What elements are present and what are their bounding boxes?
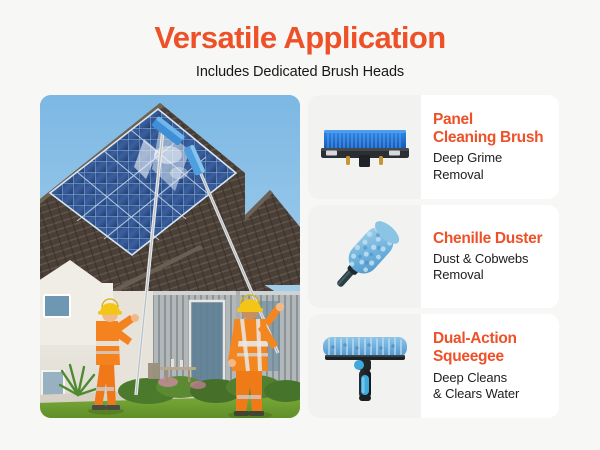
feature-card-list: Panel Cleaning Brush Deep Grime Removal <box>308 95 559 418</box>
infographic-root: Versatile Application Includes Dedicated… <box>0 0 600 450</box>
card-title: Dual-Action Squeegee <box>433 330 551 367</box>
dual-action-squeegee-icon <box>315 325 415 407</box>
card-title: Panel Cleaning Brush <box>433 111 551 148</box>
card-title: Chenille Duster <box>433 230 551 248</box>
feature-card-panel-cleaning-brush[interactable]: Panel Cleaning Brush Deep Grime Removal <box>308 95 559 199</box>
card-title-line1: Chenille Duster <box>433 230 542 247</box>
feature-card-dual-action-squeegee[interactable]: Dual-Action Squeegee Deep Cleans & Clear… <box>308 314 559 418</box>
dual-action-squeegee-text: Dual-Action Squeegee Deep Cleans & Clear… <box>421 314 559 418</box>
card-desc-line1: Deep Grime Removal <box>433 150 502 181</box>
card-description: Deep Grime Removal <box>433 150 551 183</box>
chenille-duster-text: Chenille Duster Dust & Cobwebs Removal <box>421 205 559 309</box>
card-desc-line1: Dust & Cobwebs <box>433 251 528 266</box>
card-desc-line2: & Clears Water <box>433 386 519 401</box>
panel-cleaning-brush-thumb <box>308 95 421 199</box>
chenille-duster-thumb <box>308 205 421 309</box>
card-description: Dust & Cobwebs Removal <box>433 251 551 284</box>
card-title-line1: Panel <box>433 111 473 128</box>
card-title-line2: Squeegee <box>433 348 504 365</box>
card-title-line1: Dual-Action <box>433 330 517 347</box>
content-row: Panel Cleaning Brush Deep Grime Removal <box>40 95 559 418</box>
card-title-line2: Cleaning Brush <box>433 129 543 146</box>
card-desc-line2: Removal <box>433 267 484 282</box>
page-subtitle: Includes Dedicated Brush Heads <box>0 64 600 80</box>
panel-cleaning-brush-icon <box>317 117 413 177</box>
page-title: Versatile Application <box>0 22 600 55</box>
solar-panel-cleaning-photo <box>40 95 300 418</box>
dual-action-squeegee-thumb <box>308 314 421 418</box>
card-description: Deep Cleans & Clears Water <box>433 370 551 403</box>
header: Versatile Application Includes Dedicated… <box>0 0 600 80</box>
chenille-duster-icon <box>317 216 413 298</box>
panel-cleaning-brush-text: Panel Cleaning Brush Deep Grime Removal <box>421 95 559 199</box>
card-desc-line1: Deep Cleans <box>433 370 507 385</box>
feature-card-chenille-duster[interactable]: Chenille Duster Dust & Cobwebs Removal <box>308 205 559 309</box>
